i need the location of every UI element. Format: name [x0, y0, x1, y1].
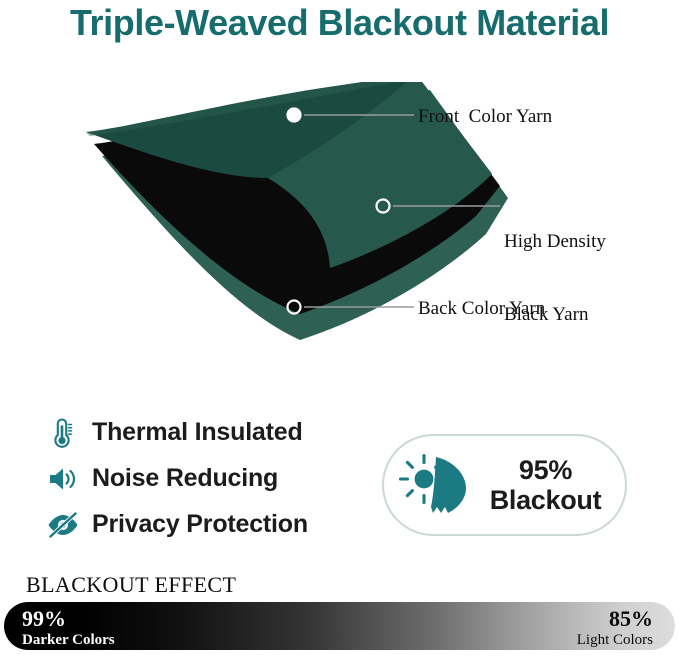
light-colors-percent: 85%: [577, 607, 653, 632]
blackout-badge: 95% Blackout: [382, 434, 627, 536]
feature-list: Thermal Insulated Noise Reducing: [46, 411, 376, 549]
light-colors-stat: 85% Light Colors: [577, 607, 653, 649]
sun-behind-curtain-icon: [398, 451, 476, 519]
thermometer-icon: [46, 416, 80, 450]
feature-label: Privacy Protection: [92, 510, 308, 539]
blackout-badge-text: 95% Blackout: [476, 455, 625, 515]
callout-label-high-density-black-yarn: High Density Black Yarn: [504, 181, 606, 376]
feature-label: Thermal Insulated: [92, 418, 303, 447]
feature-label: Noise Reducing: [92, 464, 278, 493]
infographic-page: Triple-Weaved Blackout Material: [0, 0, 679, 656]
feature-item-thermal-insulated: Thermal Insulated: [46, 411, 376, 454]
feature-item-privacy-protection: Privacy Protection: [46, 503, 376, 546]
blackout-effect-gradient-bar: 99% Darker Colors 85% Light Colors: [4, 602, 675, 650]
darker-colors-percent: 99%: [22, 607, 115, 632]
page-title: Triple-Weaved Blackout Material: [0, 2, 679, 44]
callout-label-back-color-yarn: Back Color Yarn: [418, 297, 545, 321]
callout-label-line-1: High Density: [504, 230, 606, 254]
blackout-percent: 95%: [519, 455, 572, 485]
blackout-label: Blackout: [490, 485, 602, 515]
eye-slash-icon: [46, 508, 80, 542]
speaker-sound-icon: [46, 462, 80, 496]
darker-colors-stat: 99% Darker Colors: [22, 607, 115, 649]
light-colors-label: Light Colors: [577, 632, 653, 649]
callout-label-front-color-yarn: Front Color Yarn: [418, 105, 552, 129]
darker-colors-label: Darker Colors: [22, 632, 115, 649]
blackout-effect-heading: BLACKOUT EFFECT: [26, 572, 236, 598]
feature-item-noise-reducing: Noise Reducing: [46, 457, 376, 500]
